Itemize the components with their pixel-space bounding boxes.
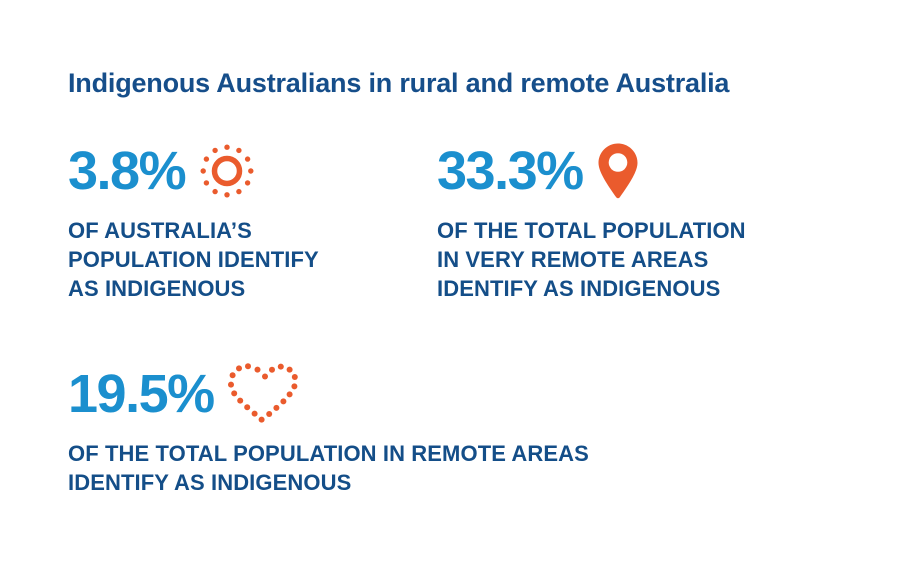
stat-headline: 19.5% <box>68 365 828 423</box>
heart-icon <box>228 362 302 426</box>
stat-caption: OF THE TOTAL POPULATION IN REMOTE AREAS … <box>68 439 828 497</box>
stat-block-australia-population: 3.8% OF AUSTRALIA’ <box>68 140 428 303</box>
page-title: Indigenous Australians in rural and remo… <box>68 68 729 99</box>
stat-value: 3.8% <box>68 144 185 198</box>
infographic-root: Indigenous Australians in rural and remo… <box>0 0 900 570</box>
stat-headline: 3.8% <box>68 140 428 202</box>
stat-headline: 33.3% <box>437 140 857 202</box>
map-pin-icon <box>597 142 639 200</box>
stat-value: 33.3% <box>437 144 583 198</box>
stat-block-very-remote-areas: 33.3% OF THE TOTAL POPULATION IN VERY RE… <box>437 140 857 303</box>
sun-icon <box>199 143 255 199</box>
stat-caption: OF THE TOTAL POPULATION IN VERY REMOTE A… <box>437 216 857 303</box>
stat-caption: OF AUSTRALIA’S POPULATION IDENTIFY AS IN… <box>68 216 428 303</box>
stat-block-remote-areas: 19.5% <box>68 365 828 497</box>
stat-value: 19.5% <box>68 367 214 421</box>
